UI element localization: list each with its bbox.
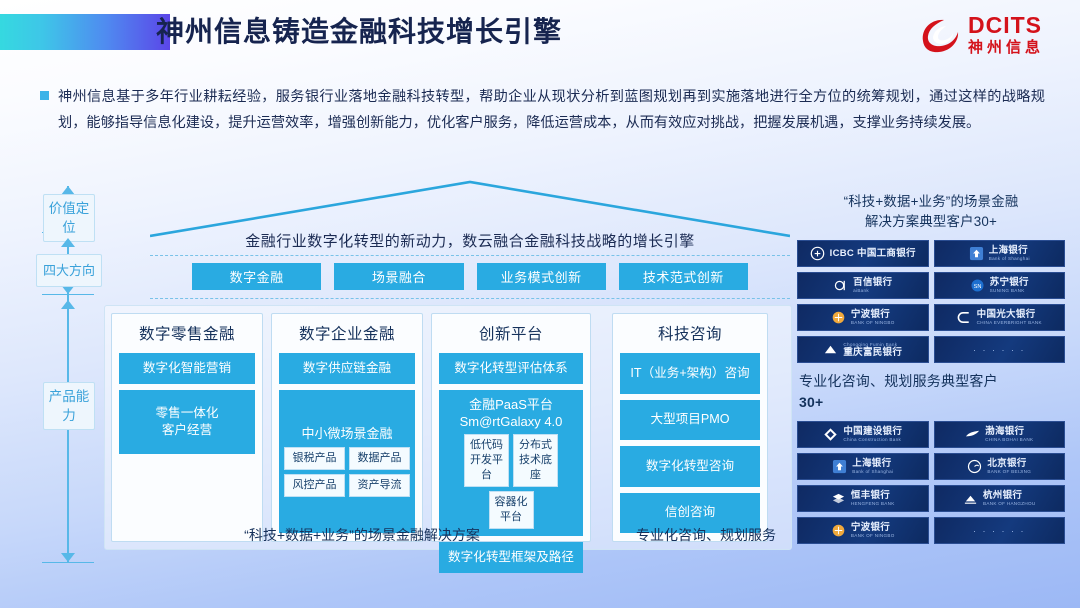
- direction-label-2: 场景融合: [372, 267, 426, 286]
- customer-logo-grid-1: ICBC 中国工商银行 上海银行 Bank of Shanghai 百信银行 a…: [797, 240, 1065, 363]
- customer-logo-ningbo-text-1: 宁波银行 BANK OF NINGBO: [851, 310, 895, 326]
- customer-logo-grid-2: 中国建设银行 China Construction Bank 渤海银行 CHIN…: [797, 421, 1065, 544]
- customer-name-2-1: 中国建设银行: [843, 427, 902, 437]
- customer-logo-suning-text: 苏宁银行 SUNING BANK: [990, 278, 1029, 294]
- product-label-2-1: 数字供应链金融: [303, 360, 391, 377]
- axis-arrow-down-3: [61, 553, 75, 562]
- value-proposition-text: 金融行业数字化转型的新动力，数云融合金融科技战略的增长引擎: [245, 230, 695, 251]
- direction-label-4: 技术范式创新: [643, 267, 724, 286]
- customer-logo-icbc: ICBC 中国工商银行: [797, 240, 929, 267]
- customer-name-2-7: 宁波银行: [851, 523, 895, 533]
- customers-panel: “科技+数据+业务”的场景金融 解决方案典型客户30+ ICBC 中国工商银行 …: [797, 188, 1065, 548]
- icbc-icon: [810, 246, 825, 261]
- customer-logo-fumin: Chongqing Fumin Bank 重庆富民银行: [797, 336, 929, 363]
- customer-logo-icbc-text: ICBC 中国工商银行: [830, 249, 916, 259]
- customer-logo-hangzhou-text: 杭州银行 BANK OF HANGZHOU: [983, 491, 1036, 507]
- customer-logo-bankofshanghai-2: 上海银行 Bank of Shanghai: [797, 453, 929, 480]
- everbright-bank-icon: [957, 310, 972, 325]
- customer-name-en-1-6: CHINA EVERBRIGHT BANK: [977, 321, 1042, 326]
- product-group-title-3-line1: 金融PaaS平台: [469, 396, 553, 413]
- customer-logo-beijing: 北京银行 BANK OF BEIJING: [934, 453, 1066, 480]
- svg-text:SN: SN: [973, 284, 981, 290]
- product-label-1-2: 零售一体化 客户经营: [156, 405, 219, 439]
- customer-logo-fumin-text: Chongqing Fumin Bank 重庆富民银行: [843, 342, 902, 358]
- customer-more-dots-2: · · · · · ·: [973, 526, 1026, 536]
- customer-name-1-7: 重庆富民银行: [843, 348, 902, 358]
- page-title: 神州信息铸造金融科技增长引擎: [156, 8, 562, 56]
- slide-root: 神州信息铸造金融科技增长引擎 DCITS 神州信息 神州信息基于多年行业耕耘经验…: [0, 0, 1080, 608]
- customer-logo-beijing-text: 北京银行 BANK OF BEIJING: [987, 459, 1031, 475]
- product-mini-2-3[interactable]: 风控产品: [284, 474, 345, 497]
- customer-logo-ningbo-1: 宁波银行 BANK OF NINGBO: [797, 304, 929, 331]
- customer-logo-bohai: 渤海银行 CHINA BOHAI BANK: [934, 421, 1066, 448]
- customer-logo-ningbo-2: 宁波银行 BANK OF NINGBO: [797, 517, 929, 544]
- product-mini-3-2[interactable]: 分布式技术底座: [513, 434, 558, 487]
- customer-name-1-5: 宁波银行: [851, 310, 895, 320]
- product-label-4-1: IT（业务+架构）咨询: [630, 365, 749, 382]
- logo-text-en: DCITS: [968, 14, 1044, 37]
- customer-name-en-2-3: Bank of Shanghai: [852, 470, 893, 475]
- customer-name-en-2-4: BANK OF BEIJING: [987, 470, 1031, 475]
- dcits-swirl-icon: [917, 15, 961, 55]
- product-group-items-2: 银税产品 数据产品 风控产品 资产导流: [284, 447, 410, 497]
- bank-of-beijing-icon: [967, 459, 982, 474]
- dcits-logo: DCITS 神州信息: [917, 14, 1044, 55]
- customer-name-2-2: 渤海银行: [985, 427, 1033, 437]
- product-block-3-1[interactable]: 数字化转型评估体系: [439, 353, 583, 384]
- customer-logo-more-1: · · · · · ·: [934, 336, 1066, 363]
- product-mini-2-2[interactable]: 数据产品: [349, 447, 410, 470]
- bottom-captions: “科技+数据+业务”的场景金融解决方案 专业化咨询、规划服务: [104, 522, 792, 548]
- customer-name-en-1-3: aiBank: [853, 289, 892, 294]
- intro-text: 神州信息基于多年行业耕耘经验，服务银行业落地金融科技转型，帮助企业从现状分析到蓝…: [58, 84, 1045, 136]
- customer-logo-bohai-text: 渤海银行 CHINA BOHAI BANK: [985, 427, 1033, 443]
- customer-name-1-3: 百信银行: [853, 278, 892, 288]
- customer-name-en-2-5: HENGFENG BANK: [851, 502, 895, 507]
- direction-button-4[interactable]: 技术范式创新: [619, 263, 748, 290]
- customer-name-1-1: ICBC 中国工商银行: [830, 249, 916, 259]
- customer-name-1-6: 中国光大银行: [977, 310, 1042, 320]
- product-label-4-4: 信创咨询: [665, 504, 715, 521]
- capability-column-enterprise: 数字企业金融 数字供应链金融 中小微场景金融 银税产品 数据产品 风控产品 资产…: [271, 313, 423, 542]
- customer-name-en-2-7: BANK OF NINGBO: [851, 534, 895, 539]
- customers-heading-1-line1: “科技+数据+业务”的场景金融: [803, 192, 1059, 212]
- product-block-4-2[interactable]: 大型项目PMO: [620, 400, 760, 441]
- product-block-2-1[interactable]: 数字供应链金融: [279, 353, 415, 384]
- customer-logo-everbright: 中国光大银行 CHINA EVERBRIGHT BANK: [934, 304, 1066, 331]
- direction-button-3[interactable]: 业务模式创新: [477, 263, 606, 290]
- customers-heading-2-line2: 30+: [799, 392, 1063, 413]
- caption-consulting: 专业化咨询、规划服务: [620, 525, 792, 545]
- axis-label-capability-text: 产品能力: [49, 389, 90, 423]
- customer-name-en-2-1: China Construction Bank: [843, 438, 902, 443]
- product-block-4-1[interactable]: IT（业务+架构）咨询: [620, 353, 760, 394]
- customer-logo-aibank: 百信银行 aiBank: [797, 272, 929, 299]
- customer-name-en-1-2: Bank of Shanghai: [989, 257, 1030, 262]
- product-mini-2-1[interactable]: 银税产品: [284, 447, 345, 470]
- value-proposition: 金融行业数字化转型的新动力，数云融合金融科技战略的增长引擎: [150, 222, 790, 258]
- divider-dashed-2: [150, 298, 790, 299]
- customers-heading-2: 专业化咨询、规划服务典型客户 30+: [797, 369, 1065, 415]
- customer-name-2-6: 杭州银行: [983, 491, 1036, 501]
- product-mini-2-4[interactable]: 资产导流: [349, 474, 410, 497]
- product-label-4-2: 大型项目PMO: [650, 411, 729, 428]
- customers-heading-2-line1: 专业化咨询、规划服务典型客户: [799, 371, 1063, 392]
- customer-logo-bos-text-1: 上海银行 Bank of Shanghai: [989, 246, 1030, 262]
- customer-logo-ccb-text: 中国建设银行 China Construction Bank: [843, 427, 902, 443]
- product-block-1-1[interactable]: 数字化智能营销: [119, 353, 255, 384]
- customer-name-2-5: 恒丰银行: [851, 491, 895, 501]
- left-axis: 价值定位 四大方向 产品能力: [34, 186, 104, 562]
- product-block-4-3[interactable]: 数字化转型咨询: [620, 446, 760, 487]
- axis-label-directions-text: 四大方向: [43, 263, 95, 278]
- slide-header: 神州信息铸造金融科技增长引擎 DCITS 神州信息: [0, 0, 1080, 72]
- customer-name-en-1-5: BANK OF NINGBO: [851, 321, 895, 326]
- axis-label-capability: 产品能力: [43, 382, 95, 430]
- axis-arrow-up-3: [61, 300, 75, 309]
- customer-logo-aibank-text: 百信银行 aiBank: [853, 278, 892, 294]
- axis-label-value: 价值定位: [43, 194, 95, 242]
- axis-arrow-up-2: [61, 238, 75, 247]
- bohai-bank-icon: [965, 427, 980, 442]
- four-directions-row: 数字金融 场景融合 业务模式创新 技术范式创新: [192, 263, 748, 290]
- customer-logo-hangzhou: 杭州银行 BANK OF HANGZHOU: [934, 485, 1066, 512]
- customer-logo-suning: SN 苏宁银行 SUNING BANK: [934, 272, 1066, 299]
- axis-tick-3: [42, 562, 94, 563]
- bank-of-shanghai-icon-2: [832, 459, 847, 474]
- column-head-3: 创新平台: [439, 320, 583, 347]
- customer-name-2-4: 北京银行: [987, 459, 1031, 469]
- logo-text-cn: 神州信息: [968, 40, 1044, 55]
- intro-paragraph: 神州信息基于多年行业耕耘经验，服务银行业落地金融科技转型，帮助企业从现状分析到蓝…: [40, 84, 1045, 136]
- product-group-title-2: 中小微场景金融: [301, 425, 392, 443]
- customers-heading-1-line2: 解决方案典型客户30+: [803, 212, 1059, 232]
- aibank-icon: [833, 278, 848, 293]
- direction-button-2[interactable]: 场景融合: [334, 263, 463, 290]
- product-label-3-1: 数字化转型评估体系: [454, 360, 567, 377]
- column-head-4: 科技咨询: [620, 320, 760, 347]
- divider-dashed-1: [150, 255, 790, 256]
- capability-column-retail: 数字零售金融 数字化智能营销 零售一体化 客户经营: [111, 313, 263, 542]
- column-head-2: 数字企业金融: [279, 320, 415, 347]
- bank-of-ningbo-icon: [831, 310, 846, 325]
- bank-of-hangzhou-icon: [963, 491, 978, 506]
- axis-label-value-text: 价值定位: [49, 201, 90, 235]
- suning-bank-icon: SN: [970, 278, 985, 293]
- customer-logo-bos-text-2: 上海银行 Bank of Shanghai: [852, 459, 893, 475]
- bank-of-shanghai-icon: [969, 246, 984, 261]
- capability-panel: 数字零售金融 数字化智能营销 零售一体化 客户经营 数字企业金融 数字供应链金融…: [104, 305, 792, 550]
- customer-more-dots-1: · · · · · ·: [973, 345, 1026, 355]
- customer-logo-ccb: 中国建设银行 China Construction Bank: [797, 421, 929, 448]
- direction-label-1: 数字金融: [230, 267, 284, 286]
- customer-name-2-3: 上海银行: [852, 459, 893, 469]
- product-group-title-3-line2: Sm@rtGalaxy 4.0: [460, 413, 563, 430]
- axis-tick-2: [42, 294, 94, 295]
- product-mini-3-1[interactable]: 低代码开发平台: [464, 434, 509, 487]
- column-head-1: 数字零售金融: [119, 320, 255, 347]
- product-label-4-3: 数字化转型咨询: [646, 458, 734, 475]
- customer-logo-bankofshanghai-1: 上海银行 Bank of Shanghai: [934, 240, 1066, 267]
- customer-name-en-2-2: CHINA BOHAI BANK: [985, 438, 1033, 443]
- title-accent-bar: [0, 14, 170, 50]
- customer-logo-everbright-text: 中国光大银行 CHINA EVERBRIGHT BANK: [977, 310, 1042, 326]
- product-group-2[interactable]: 中小微场景金融 银税产品 数据产品 风控产品 资产导流: [279, 390, 415, 533]
- bank-of-ningbo-icon-2: [831, 523, 846, 538]
- customer-name-1-2: 上海银行: [989, 246, 1030, 256]
- customer-logo-hengfeng: 恒丰银行 HENGFENG BANK: [797, 485, 929, 512]
- capability-column-innovation: 创新平台 数字化转型评估体系 金融PaaS平台 Sm@rtGalaxy 4.0 …: [431, 313, 591, 542]
- product-group-items-3: 低代码开发平台 分布式技术底座 容器化平台: [444, 434, 578, 529]
- direction-label-3: 业务模式创新: [501, 267, 582, 286]
- direction-button-1[interactable]: 数字金融: [192, 263, 321, 290]
- product-block-1-2[interactable]: 零售一体化 客户经营: [119, 390, 255, 454]
- product-label-3-footer: 数字化转型框架及路径: [448, 549, 574, 566]
- customer-logo-hengfeng-text: 恒丰银行 HENGFENG BANK: [851, 491, 895, 507]
- ccb-icon: [823, 427, 838, 442]
- customer-logo-more-2: · · · · · ·: [934, 517, 1066, 544]
- capability-column-consulting: 科技咨询 IT（业务+架构）咨询 大型项目PMO 数字化转型咨询 信创咨询: [612, 313, 768, 542]
- customers-heading-1: “科技+数据+业务”的场景金融 解决方案典型客户30+: [797, 188, 1065, 234]
- customer-name-en-1-4: SUNING BANK: [990, 289, 1029, 294]
- bullet-square-icon: [40, 91, 49, 100]
- axis-label-directions: 四大方向: [36, 254, 102, 287]
- customer-name-en-2-6: BANK OF HANGZHOU: [983, 502, 1036, 507]
- hengfeng-bank-icon: [831, 491, 846, 506]
- customer-name-1-4: 苏宁银行: [990, 278, 1029, 288]
- logo-wordmark: DCITS 神州信息: [968, 14, 1044, 55]
- chongqing-fumin-bank-icon: [823, 342, 838, 357]
- product-group-3[interactable]: 金融PaaS平台 Sm@rtGalaxy 4.0 低代码开发平台 分布式技术底座…: [439, 390, 583, 536]
- customer-logo-ningbo-text-2: 宁波银行 BANK OF NINGBO: [851, 523, 895, 539]
- caption-solutions: “科技+数据+业务”的场景金融解决方案: [104, 525, 620, 545]
- product-label-1-1: 数字化智能营销: [143, 360, 231, 377]
